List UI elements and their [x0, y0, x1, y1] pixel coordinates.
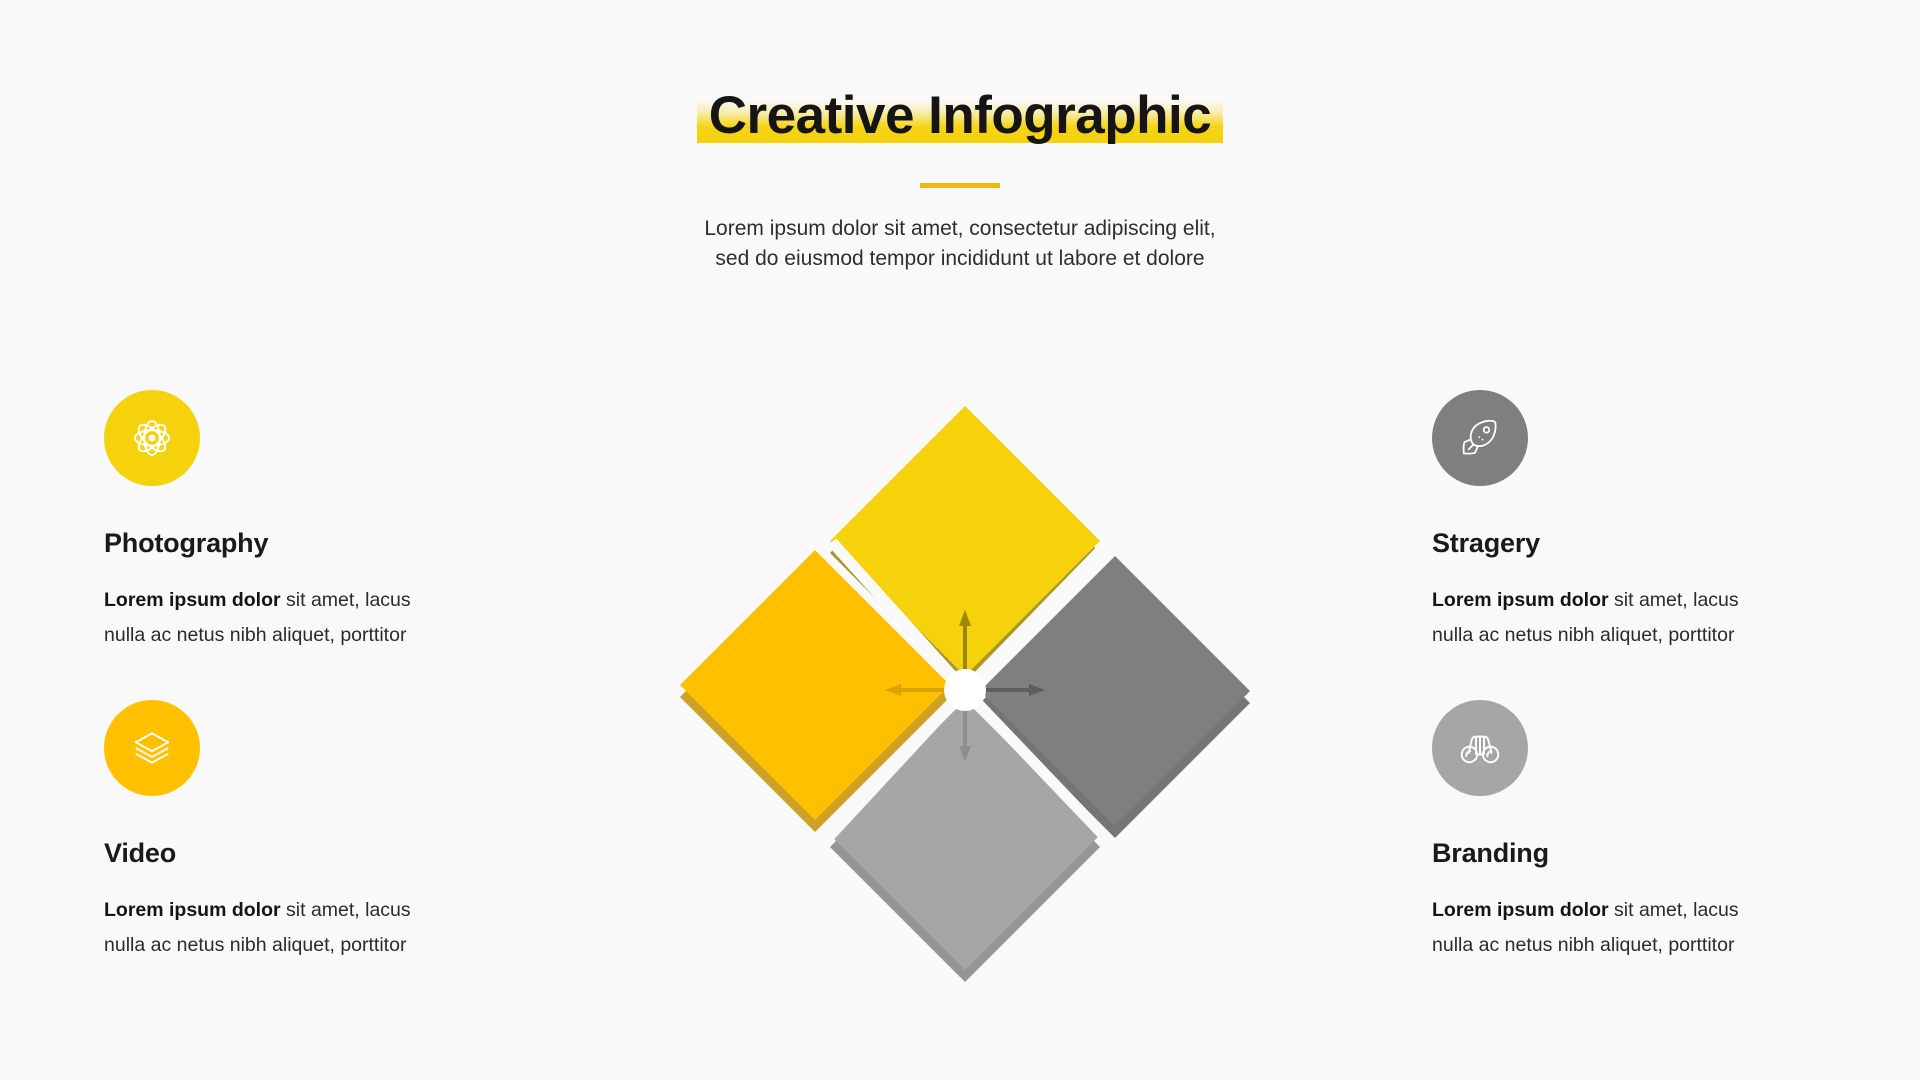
rocket-icon [1454, 412, 1506, 464]
diamond-hub-diagram [660, 390, 1260, 990]
page-title-wrap: Creative Infographic [703, 86, 1217, 147]
hub-center[interactable] [944, 669, 986, 711]
item-desc-bold: Lorem ipsum dolor [1432, 589, 1609, 611]
icon-circle-video[interactable] [104, 700, 200, 796]
item-desc-bold: Lorem ipsum dolor [104, 589, 281, 611]
item-desc-video: Lorem ipsum dolor sit amet, lacus nulla … [104, 893, 534, 962]
page-title: Creative Infographic [703, 86, 1217, 147]
item-desc-line-2: nulla ac netus nibh aliquet, porttitor [104, 618, 534, 653]
item-branding[interactable]: Branding Lorem ipsum dolor sit amet, lac… [1432, 700, 1862, 962]
page-subtitle-line-1: Lorem ipsum dolor sit amet, consectetur … [0, 214, 1920, 244]
item-desc-rest: sit amet, lacus [1609, 899, 1739, 921]
item-desc-line-2: nulla ac netus nibh aliquet, porttitor [104, 928, 534, 963]
item-title-branding: Branding [1432, 838, 1862, 869]
infographic-slide: Creative Infographic Lorem ipsum dolor s… [0, 0, 1920, 1080]
icon-circle-photography[interactable] [104, 390, 200, 486]
item-desc-rest: sit amet, lacus [281, 589, 411, 611]
item-desc-bold: Lorem ipsum dolor [104, 899, 281, 921]
item-title-stragery: Stragery [1432, 528, 1862, 559]
page-subtitle: Lorem ipsum dolor sit amet, consectetur … [0, 214, 1920, 275]
item-desc-photography: Lorem ipsum dolor sit amet, lacus nulla … [104, 583, 534, 652]
item-desc-bold: Lorem ipsum dolor [1432, 899, 1609, 921]
item-desc-rest: sit amet, lacus [281, 899, 411, 921]
item-desc-branding: Lorem ipsum dolor sit amet, lacus nulla … [1432, 893, 1862, 962]
item-title-photography: Photography [104, 528, 534, 559]
item-desc-rest: sit amet, lacus [1609, 589, 1739, 611]
diamond-hub-svg [660, 390, 1260, 990]
title-divider [920, 183, 1000, 188]
item-desc-stragery: Lorem ipsum dolor sit amet, lacus nulla … [1432, 583, 1862, 652]
layers-icon [126, 722, 178, 774]
item-desc-line-2: nulla ac netus nibh aliquet, porttitor [1432, 928, 1862, 963]
item-title-video: Video [104, 838, 534, 869]
icon-circle-stragery[interactable] [1432, 390, 1528, 486]
atom-icon [126, 412, 178, 464]
item-stragery[interactable]: Stragery Lorem ipsum dolor sit amet, lac… [1432, 390, 1862, 652]
item-desc-line-2: nulla ac netus nibh aliquet, porttitor [1432, 618, 1862, 653]
page-subtitle-line-2: sed do eiusmod tempor incididunt ut labo… [0, 244, 1920, 274]
icon-circle-branding[interactable] [1432, 700, 1528, 796]
item-video[interactable]: Video Lorem ipsum dolor sit amet, lacus … [104, 700, 534, 962]
binoculars-icon [1454, 722, 1506, 774]
item-photography[interactable]: Photography Lorem ipsum dolor sit amet, … [104, 390, 534, 652]
header: Creative Infographic Lorem ipsum dolor s… [0, 0, 1920, 275]
